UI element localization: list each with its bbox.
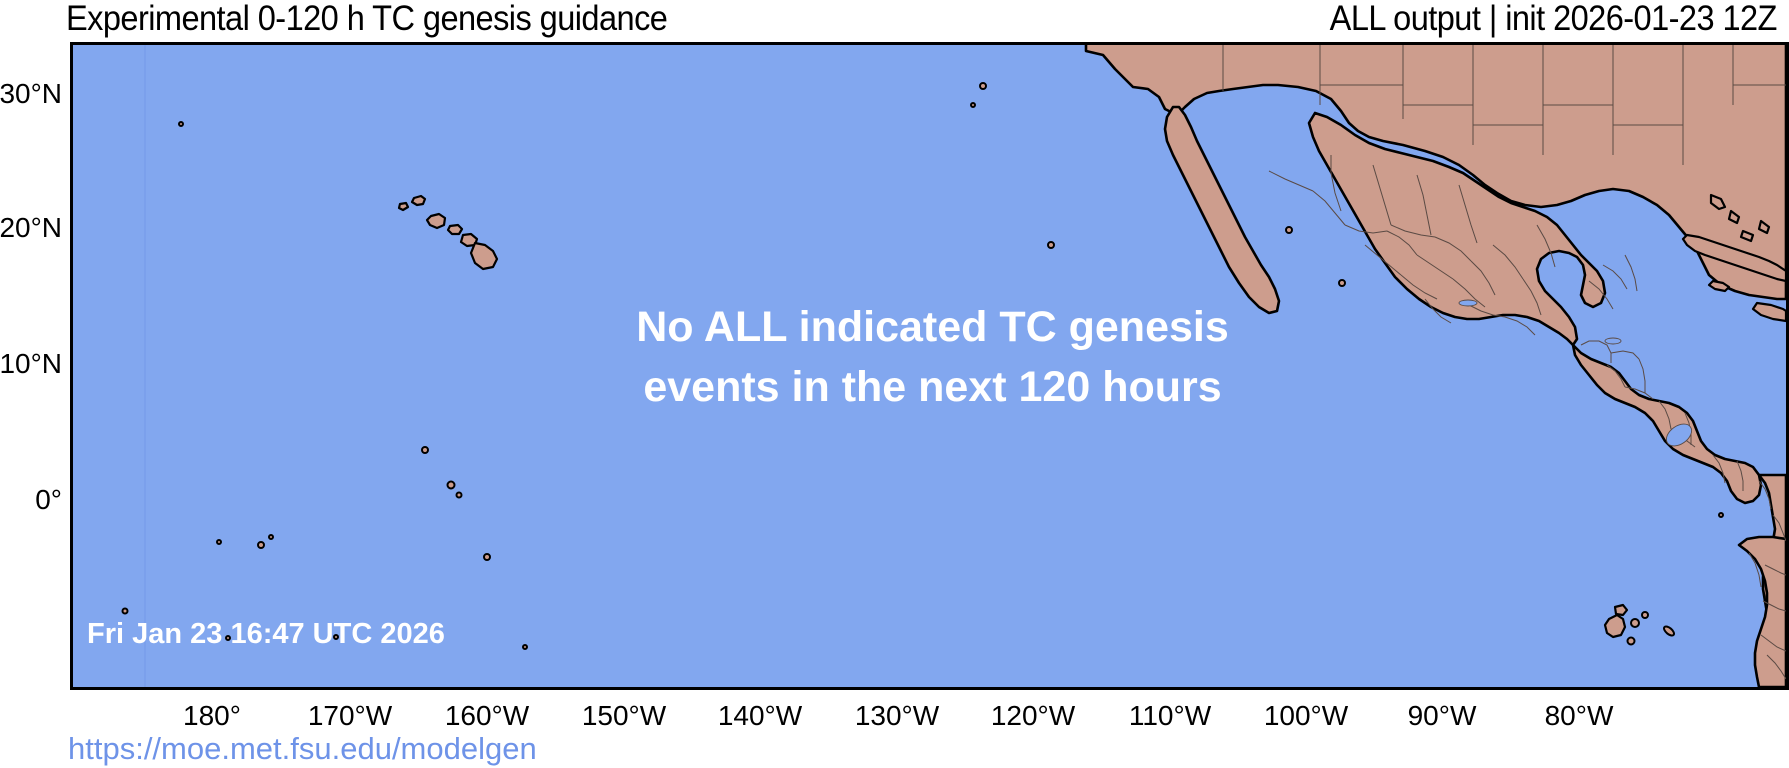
source-url-link[interactable]: https://moe.met.fsu.edu/modelgen — [68, 731, 537, 767]
model-init-label: ALL output | init 2026-01-23 12Z — [1330, 0, 1777, 39]
y-axis-tick-30n: 30°N — [0, 78, 62, 110]
page-header: Experimental 0-120 h TC genesis guidance… — [0, 0, 1789, 42]
y-axis-tick-10n: 10°N — [0, 348, 62, 380]
tc-genesis-guidance-page: Experimental 0-120 h TC genesis guidance… — [0, 0, 1789, 768]
map-plot-area: .land { fill:#cd9d8d; stroke:#000000; st… — [70, 42, 1789, 690]
x-axis-tick-80w: 80°W — [1479, 700, 1679, 732]
generated-timestamp: Fri Jan 23 16:47 UTC 2026 — [87, 618, 445, 651]
page-title: Experimental 0-120 h TC genesis guidance — [66, 0, 667, 39]
y-axis-tick-20n: 20°N — [0, 212, 62, 244]
basemap-svg: .land { fill:#cd9d8d; stroke:#000000; st… — [73, 45, 1786, 687]
small-pacific-islets — [1719, 513, 1723, 517]
y-axis-tick-0: 0° — [0, 484, 62, 516]
